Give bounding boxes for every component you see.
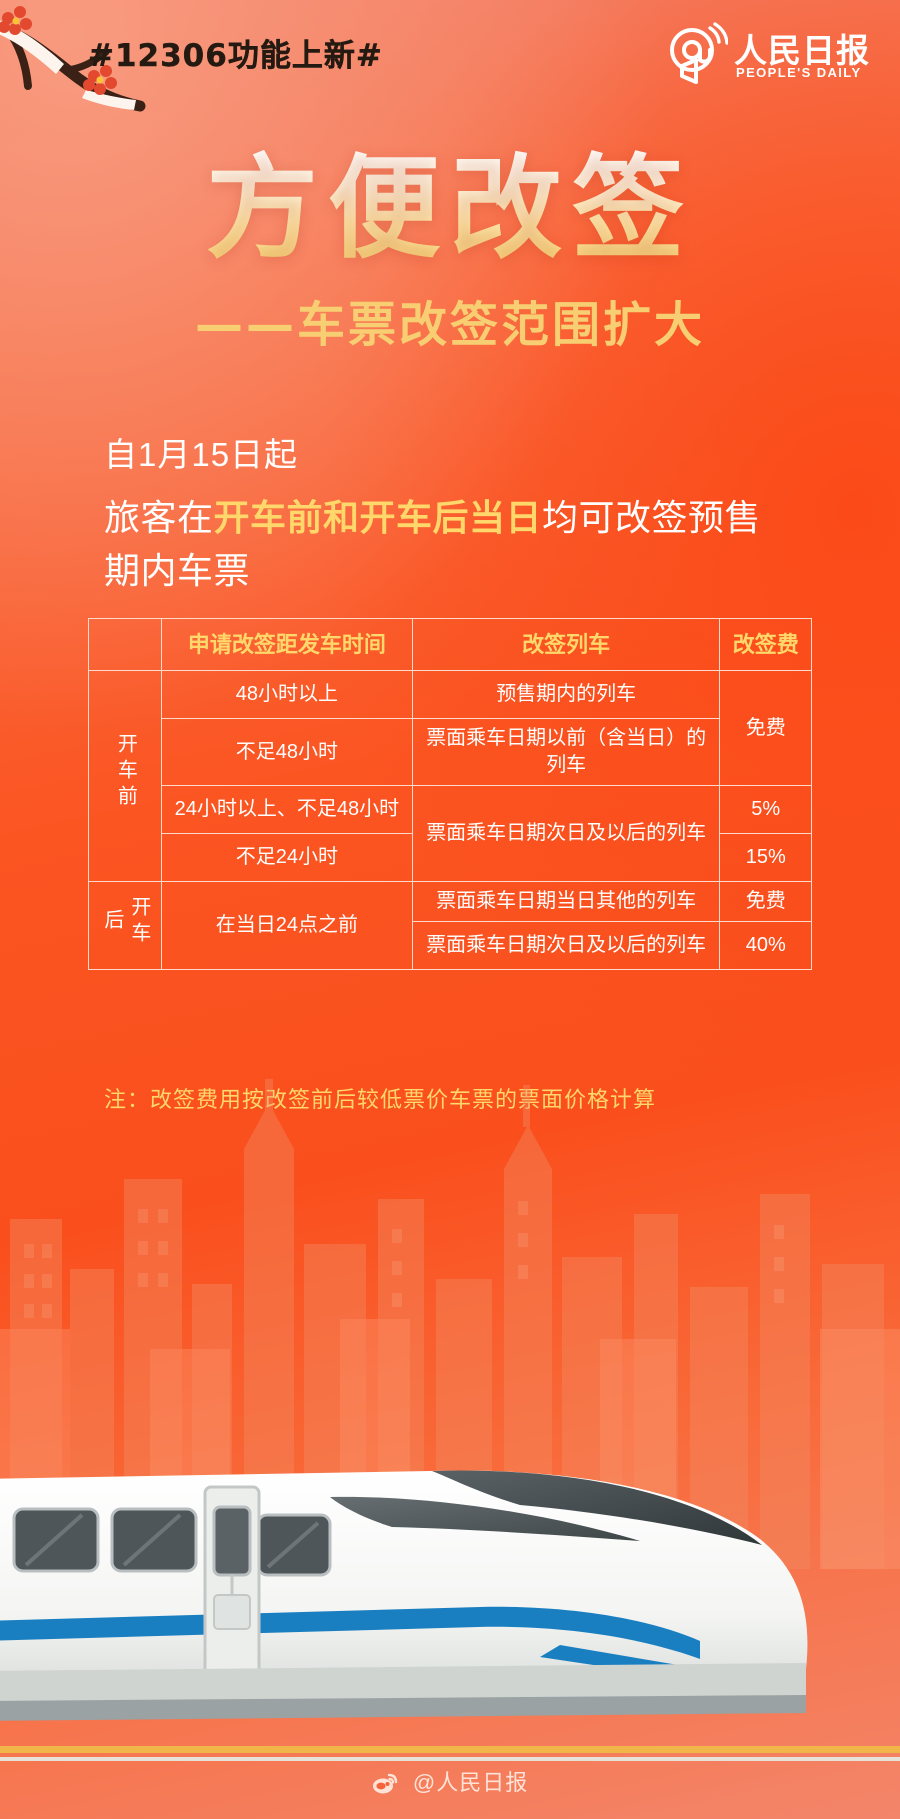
cell-time: 不足48小时 bbox=[161, 719, 412, 786]
table-header-fee: 改签费 bbox=[720, 619, 812, 671]
high-speed-train-illustration bbox=[0, 1409, 900, 1739]
logo-english-name: PEOPLE'S DAILY bbox=[736, 65, 862, 80]
page-title: 方便改签 bbox=[0, 145, 900, 274]
cell-fee: 40% bbox=[720, 922, 812, 970]
cell-time: 24小时以上、不足48小时 bbox=[161, 786, 412, 834]
header: #12306功能上新# 人民日报 PEOPLE'S DAILY bbox=[0, 0, 900, 118]
paragraph-prefix: 旅客在 bbox=[104, 497, 214, 538]
table-header-blank bbox=[89, 619, 162, 671]
weibo-account: @人民日报 bbox=[413, 1770, 528, 1795]
rebooking-fee-table: 申请改签距发车时间 改签列车 改签费 开车前 48小时以上 预售期内的列车 免费… bbox=[88, 618, 812, 970]
rail-line-light bbox=[0, 1757, 900, 1761]
cell-train: 票面乘车日期次日及以后的列车 bbox=[412, 922, 720, 970]
weibo-icon bbox=[372, 1773, 398, 1795]
cell-train: 票面乘车日期当日其他的列车 bbox=[412, 882, 720, 922]
cell-train: 票面乘车日期以前（含当日）的列车 bbox=[412, 719, 720, 786]
table-row: 开车前 48小时以上 预售期内的列车 免费 bbox=[89, 671, 812, 719]
lead-text: 自1月15日起 bbox=[104, 432, 824, 479]
cell-train: 预售期内的列车 bbox=[412, 671, 720, 719]
footer-attribution: @人民日报 bbox=[0, 1765, 900, 1797]
at-sign-megaphone-icon bbox=[666, 22, 728, 88]
cell-fee: 免费 bbox=[720, 671, 812, 786]
table-row: 24小时以上、不足48小时 票面乘车日期次日及以后的列车 5% bbox=[89, 786, 812, 834]
cell-train: 票面乘车日期次日及以后的列车 bbox=[412, 786, 720, 882]
cell-time: 在当日24点之前 bbox=[161, 882, 412, 970]
group-label-after: 开车后 bbox=[89, 882, 162, 970]
table-row: 不足48小时 票面乘车日期以前（含当日）的列车 bbox=[89, 719, 812, 786]
table-header-time: 申请改签距发车时间 bbox=[161, 619, 412, 671]
cell-fee: 5% bbox=[720, 786, 812, 834]
poster-canvas: #12306功能上新# 人民日报 PEOPLE'S DAILY 方便改签 ——车… bbox=[0, 0, 900, 1819]
body-paragraph: 旅客在开车前和开车后当日均可改签预售期内车票 bbox=[104, 492, 764, 597]
table-row: 开车后 在当日24点之前 票面乘车日期当日其他的列车 免费 bbox=[89, 882, 812, 922]
table-header-row: 申请改签距发车时间 改签列车 改签费 bbox=[89, 619, 812, 671]
hashtag-title: #12306功能上新# bbox=[88, 30, 383, 75]
group-label-before: 开车前 bbox=[89, 671, 162, 882]
cell-fee: 15% bbox=[720, 834, 812, 882]
rail-line-gold bbox=[0, 1746, 900, 1753]
page-subtitle: ——车票改签范围扩大 bbox=[0, 285, 900, 355]
cell-time: 48小时以上 bbox=[161, 671, 412, 719]
paragraph-highlight: 开车前和开车后当日 bbox=[214, 497, 543, 538]
table-header-train: 改签列车 bbox=[412, 619, 720, 671]
cell-time: 不足24小时 bbox=[161, 834, 412, 882]
peoples-daily-logo: 人民日报 PEOPLE'S DAILY bbox=[666, 22, 876, 92]
cell-fee: 免费 bbox=[720, 882, 812, 922]
